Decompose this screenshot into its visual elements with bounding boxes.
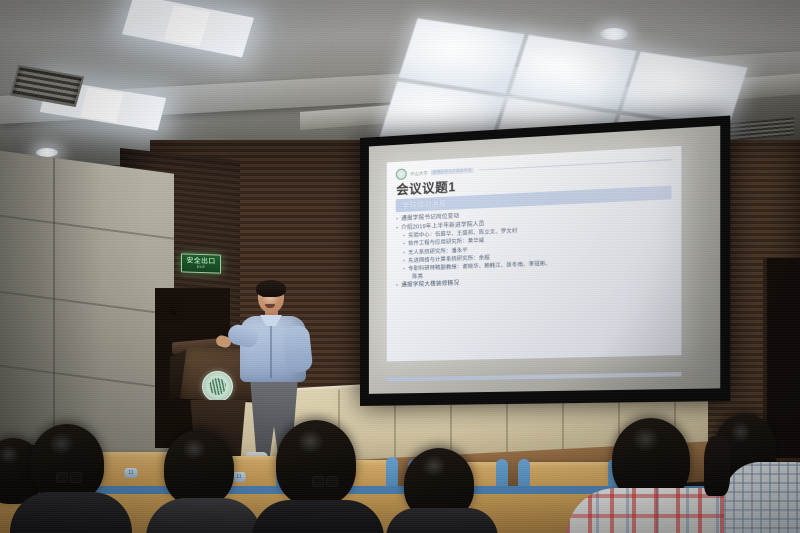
- audience-shoulders: [724, 462, 800, 533]
- eyeglasses-icon: [312, 476, 338, 485]
- left-wall-acoustic-panels: [0, 150, 174, 464]
- hair-highlight: [0, 445, 19, 465]
- presenter-arm: [283, 325, 314, 373]
- audience-shoulders: [252, 500, 384, 533]
- hair-highlight: [730, 421, 751, 443]
- microphone-head: [170, 309, 176, 315]
- ceiling-downlight: [600, 28, 628, 40]
- slide-footer-bar: [387, 372, 681, 381]
- eyeglasses-icon: [56, 472, 82, 481]
- slide-logo-university: 中山大学: [410, 171, 428, 177]
- audience-hair: [704, 436, 730, 496]
- university-seal-icon: [396, 169, 407, 181]
- exit-sign: 安全出口 EXIT: [181, 253, 221, 273]
- projection-screen: 中山大学 数据科学与计算机学院 会议议题1 学院情况通报 通报学院书记岗位变动 …: [360, 116, 730, 406]
- audience-shoulders: [10, 492, 132, 533]
- slide-logo-school: 数据科学与计算机学院: [431, 168, 474, 175]
- lecture-hall-photo: 安全出口 EXIT 中山大学 数据科学与计算机学院 会议议题1 学院情况通报 通…: [0, 0, 800, 533]
- projection-screen-surface: 中山大学 数据科学与计算机学院 会议议题1 学院情况通报 通报学院书记岗位变动 …: [369, 126, 720, 394]
- hair-highlight: [297, 429, 324, 455]
- seat-row-number: 11: [233, 472, 246, 482]
- audience-shoulders: [386, 508, 498, 533]
- hair-highlight: [632, 426, 659, 451]
- audience-member: [164, 430, 234, 506]
- audience-member: [276, 420, 356, 506]
- hair-highlight: [422, 455, 446, 477]
- presentation-slide: 中山大学 数据科学与计算机学院 会议议题1 学院情况通报 通报学院书记岗位变动 …: [387, 146, 681, 361]
- hair-highlight: [49, 432, 74, 455]
- hair-highlight: [182, 438, 206, 461]
- slide-bullet-list: 通报学院书记岗位变动 介绍2019年上半年新进学院人员 实验中心：伍庭华、王盛邦…: [396, 203, 671, 291]
- slide-header-rule: [479, 159, 672, 170]
- slide-subtitle-text: 学院情况通报: [396, 199, 446, 212]
- university-seal-icon: [202, 371, 233, 402]
- exit-sign-english-label: EXIT: [197, 265, 205, 269]
- presenter-hair: [256, 280, 286, 297]
- microphone-stem: [172, 310, 202, 339]
- seat-row-number: 11: [125, 468, 138, 478]
- audience-member: [30, 424, 104, 502]
